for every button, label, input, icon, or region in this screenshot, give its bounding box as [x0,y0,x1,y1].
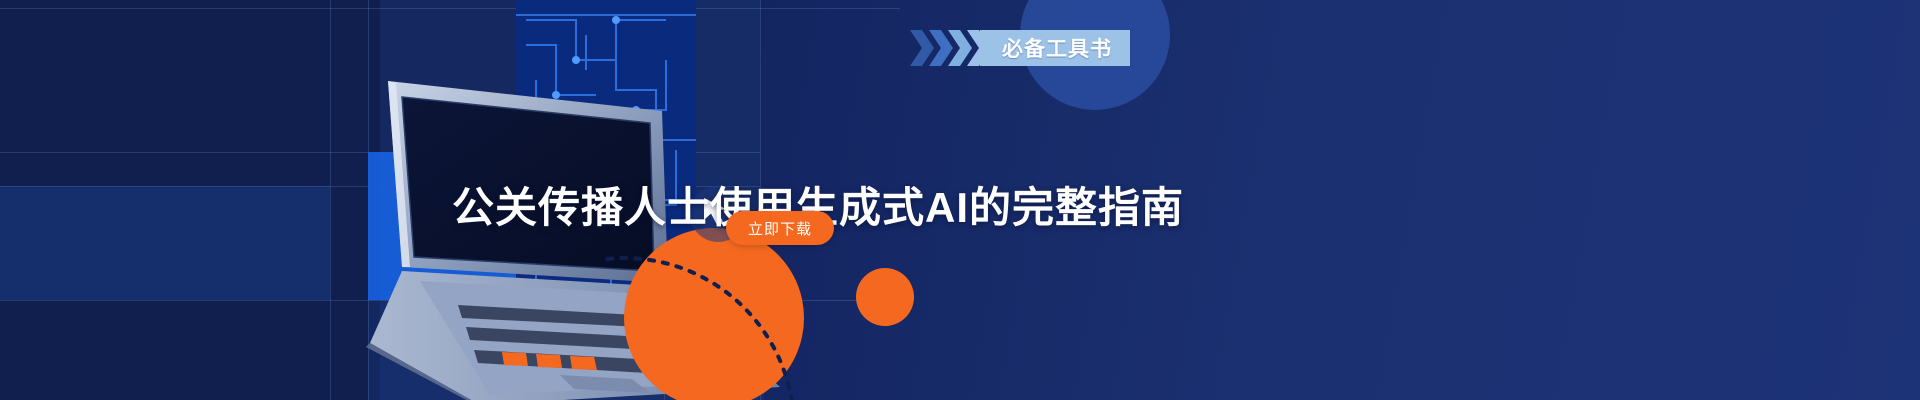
grid-line-horizontal [0,8,900,9]
promo-banner: 必备工具书 公关传播人士使用生成式AI的完整指南 立即下载 [0,0,1920,400]
badge-bar: 必备工具书 [980,30,1130,66]
circle-dot-shape-icon [856,268,914,326]
badge-label: 必备工具书 [1002,33,1112,63]
download-button[interactable]: 立即下载 [726,211,834,245]
badge: 必备工具书 [908,30,1130,66]
grid-line-vertical [330,0,331,400]
decor-rect-left [0,186,330,300]
